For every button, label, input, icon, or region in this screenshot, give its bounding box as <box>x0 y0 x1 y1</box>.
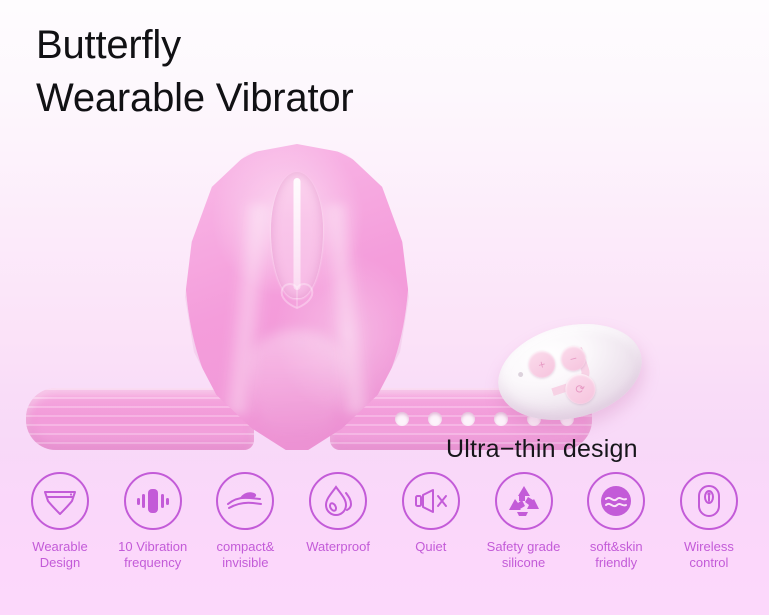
product-stage: + − ⟳ <box>0 130 769 460</box>
wireless-remote-icon <box>680 472 738 530</box>
body-cutout-ridge <box>294 178 301 290</box>
feature-list: Wearable Design 10 Vibration frequency <box>0 472 769 615</box>
product-banner: Butterfly Wearable Vibrator <box>0 0 769 615</box>
strap-hole <box>428 412 442 426</box>
feature-item-wireless-control: Wireless control <box>663 472 755 615</box>
feature-item-vibration-frequency: 10 Vibration frequency <box>107 472 199 615</box>
body-tail-highlight <box>249 330 345 442</box>
remote-power-button[interactable]: ⟳ <box>562 371 598 407</box>
feature-label: 10 Vibration frequency <box>118 539 187 572</box>
product-caption: Ultra−thin design <box>446 435 638 464</box>
feature-label: Waterproof <box>306 539 370 555</box>
feature-item-wearable-design: Wearable Design <box>14 472 106 615</box>
remote-led-icon <box>518 371 524 377</box>
strap-hole <box>395 412 409 426</box>
vibration-bars-icon <box>124 472 182 530</box>
title-line-2: Wearable Vibrator <box>36 75 596 122</box>
feature-item-quiet: Quiet <box>385 472 477 615</box>
water-droplet-icon <box>309 472 367 530</box>
body-cutout <box>271 172 323 298</box>
muted-speaker-icon <box>402 472 460 530</box>
hand-compact-icon <box>216 472 274 530</box>
underwear-icon <box>31 472 89 530</box>
strap-hole <box>494 412 508 426</box>
soft-waves-icon <box>587 472 645 530</box>
feature-item-soft-skin-friendly: soft&skin friendly <box>570 472 662 615</box>
remote-power-label: ⟳ <box>562 371 598 407</box>
feature-item-waterproof: Waterproof <box>292 472 384 615</box>
feature-item-compact-invisible: compact& invisible <box>199 472 291 615</box>
remote-button-cluster[interactable]: + − ⟳ <box>525 334 622 414</box>
recycle-icon <box>495 472 553 530</box>
page-title: Butterfly Wearable Vibrator <box>36 22 596 122</box>
feature-label: soft&skin friendly <box>590 539 643 572</box>
feature-label: Quiet <box>415 539 446 555</box>
feature-label: Wireless control <box>663 539 755 572</box>
feature-label: compact& invisible <box>217 539 275 572</box>
feature-item-safety-grade-silicone: Safety grade silicone <box>478 472 570 615</box>
butterfly-emblem-icon <box>278 282 316 312</box>
title-line-1: Butterfly <box>36 22 596 69</box>
strap-hole <box>461 412 475 426</box>
feature-label: Safety grade silicone <box>487 539 561 572</box>
feature-label: Wearable Design <box>32 539 87 572</box>
